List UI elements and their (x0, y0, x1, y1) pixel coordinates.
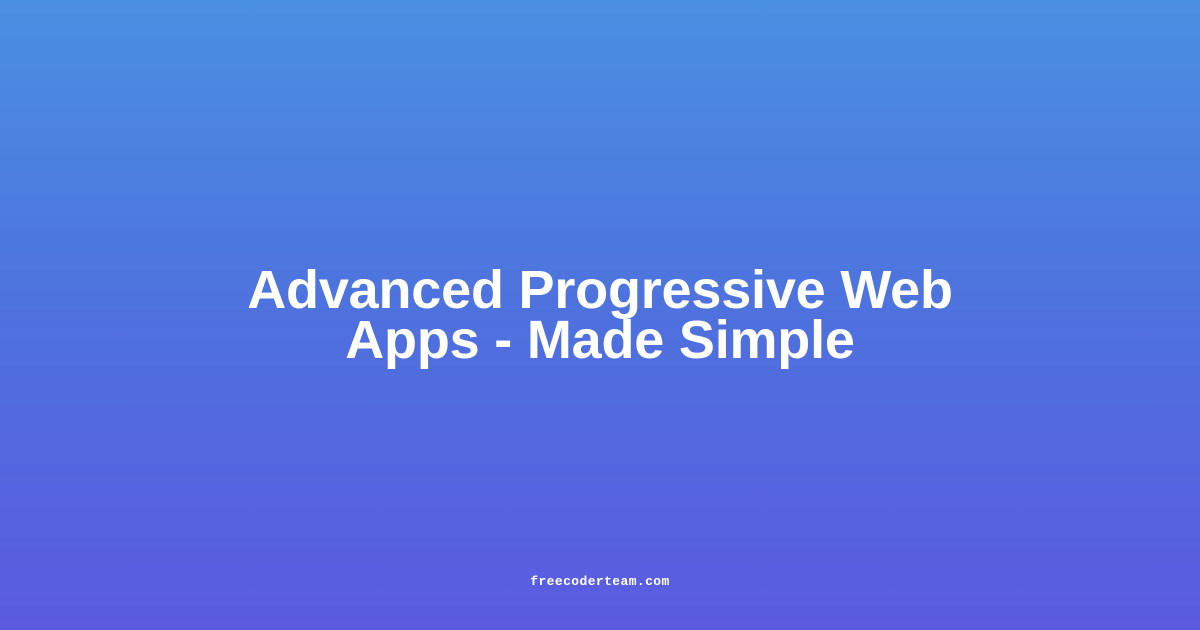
headline-container: Advanced Progressive Web Apps - Made Sim… (0, 0, 1200, 630)
og-share-card: Advanced Progressive Web Apps - Made Sim… (0, 0, 1200, 630)
page-title: Advanced Progressive Web Apps - Made Sim… (180, 265, 1020, 365)
site-brand-label: freecoderteam.com (0, 575, 1200, 588)
